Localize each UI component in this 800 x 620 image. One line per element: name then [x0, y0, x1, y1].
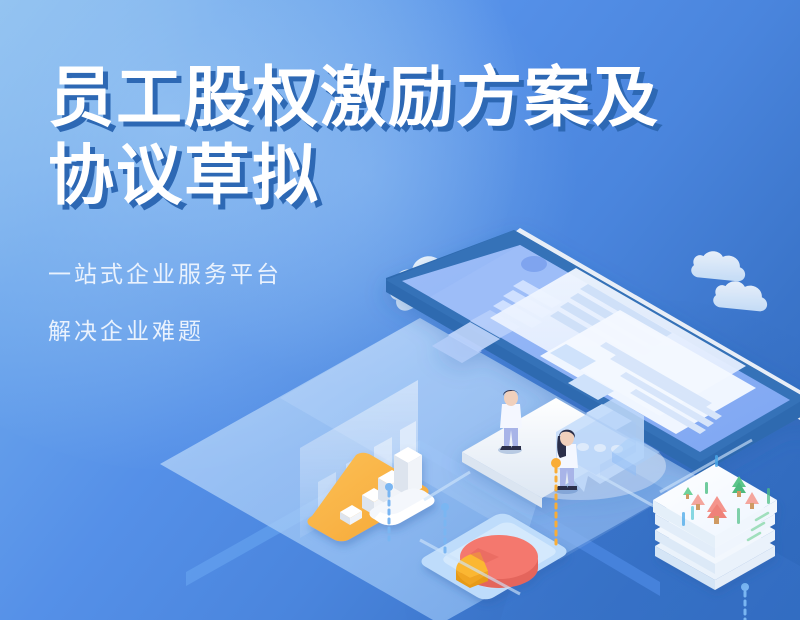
promo-banner: 员工股权激励方案及 协议草拟 一站式企业服务平台 解决企业难题	[0, 0, 800, 620]
pin-blue-1	[385, 483, 393, 540]
subtitle-line-1: 一站式企业服务平台	[48, 260, 660, 289]
headline-line-2: 协议草拟	[48, 136, 660, 214]
text-block: 员工股权激励方案及 协议草拟 一站式企业服务平台 解决企业难题	[48, 58, 660, 346]
headline-line-1: 员工股权激励方案及	[48, 58, 660, 136]
subtitle-line-2: 解决企业难题	[48, 317, 660, 346]
subtitle-group: 一站式企业服务平台 解决企业难题	[48, 260, 660, 346]
